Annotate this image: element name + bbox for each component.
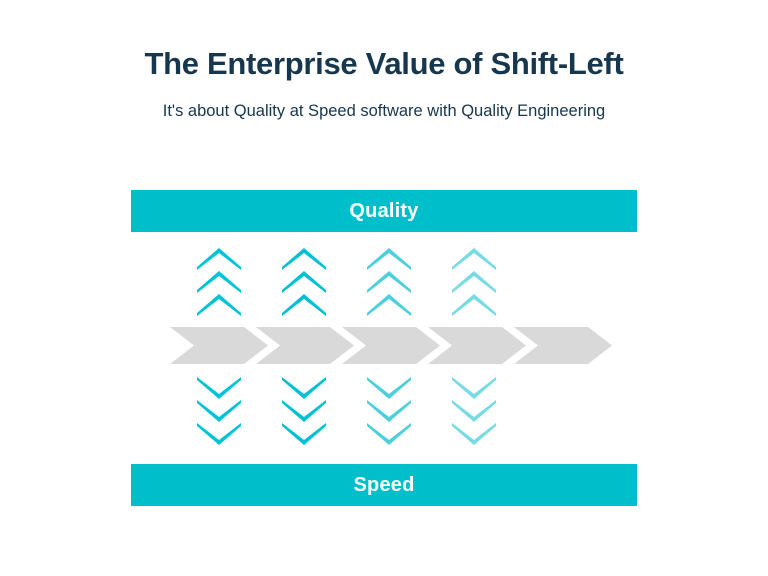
chevron-down-icon — [367, 377, 411, 399]
process-chevron-band — [170, 327, 598, 364]
chevron-up-icon — [367, 271, 411, 293]
downward-chevron-column-1 — [197, 377, 241, 447]
chevron-down-icon — [452, 400, 496, 422]
header: The Enterprise Value of Shift-Left It's … — [0, 46, 768, 121]
chevron-up-icon — [282, 271, 326, 293]
upward-chevrons-group — [0, 248, 768, 318]
chevron-up-icon — [282, 248, 326, 270]
process-step-5 — [514, 327, 612, 364]
chevron-down-icon — [452, 423, 496, 445]
speed-band: Speed — [131, 464, 637, 506]
chevron-up-icon — [282, 294, 326, 316]
process-step-3 — [342, 327, 440, 364]
chevron-down-icon — [197, 400, 241, 422]
chevron-down-icon — [197, 423, 241, 445]
shift-left-infographic: The Enterprise Value of Shift-Left It's … — [0, 0, 768, 576]
chevron-down-icon — [197, 377, 241, 399]
quality-band: Quality — [131, 190, 637, 232]
chevron-up-icon — [367, 248, 411, 270]
process-step-2 — [256, 327, 354, 364]
chevron-down-icon — [282, 377, 326, 399]
upward-chevron-column-4 — [452, 248, 496, 318]
downward-chevron-column-4 — [452, 377, 496, 447]
upward-chevron-column-1 — [197, 248, 241, 318]
chevron-up-icon — [452, 294, 496, 316]
speed-band-label: Speed — [353, 475, 414, 495]
chevron-up-icon — [367, 294, 411, 316]
downward-chevron-column-2 — [282, 377, 326, 447]
process-step-1 — [170, 327, 268, 364]
chevron-down-icon — [367, 400, 411, 422]
chevron-up-icon — [197, 271, 241, 293]
upward-chevron-column-2 — [282, 248, 326, 318]
chevron-up-icon — [197, 294, 241, 316]
downward-chevron-column-3 — [367, 377, 411, 447]
quality-band-label: Quality — [349, 201, 418, 221]
page-subtitle: It's about Quality at Speed software wit… — [0, 82, 768, 122]
chevron-up-icon — [452, 271, 496, 293]
page-title: The Enterprise Value of Shift-Left — [0, 46, 768, 82]
chevron-down-icon — [452, 377, 496, 399]
chevron-down-icon — [282, 400, 326, 422]
chevron-up-icon — [197, 248, 241, 270]
chevron-up-icon — [452, 248, 496, 270]
chevron-down-icon — [367, 423, 411, 445]
chevron-down-icon — [282, 423, 326, 445]
upward-chevron-column-3 — [367, 248, 411, 318]
downward-chevrons-group — [0, 377, 768, 447]
process-step-4 — [428, 327, 526, 364]
